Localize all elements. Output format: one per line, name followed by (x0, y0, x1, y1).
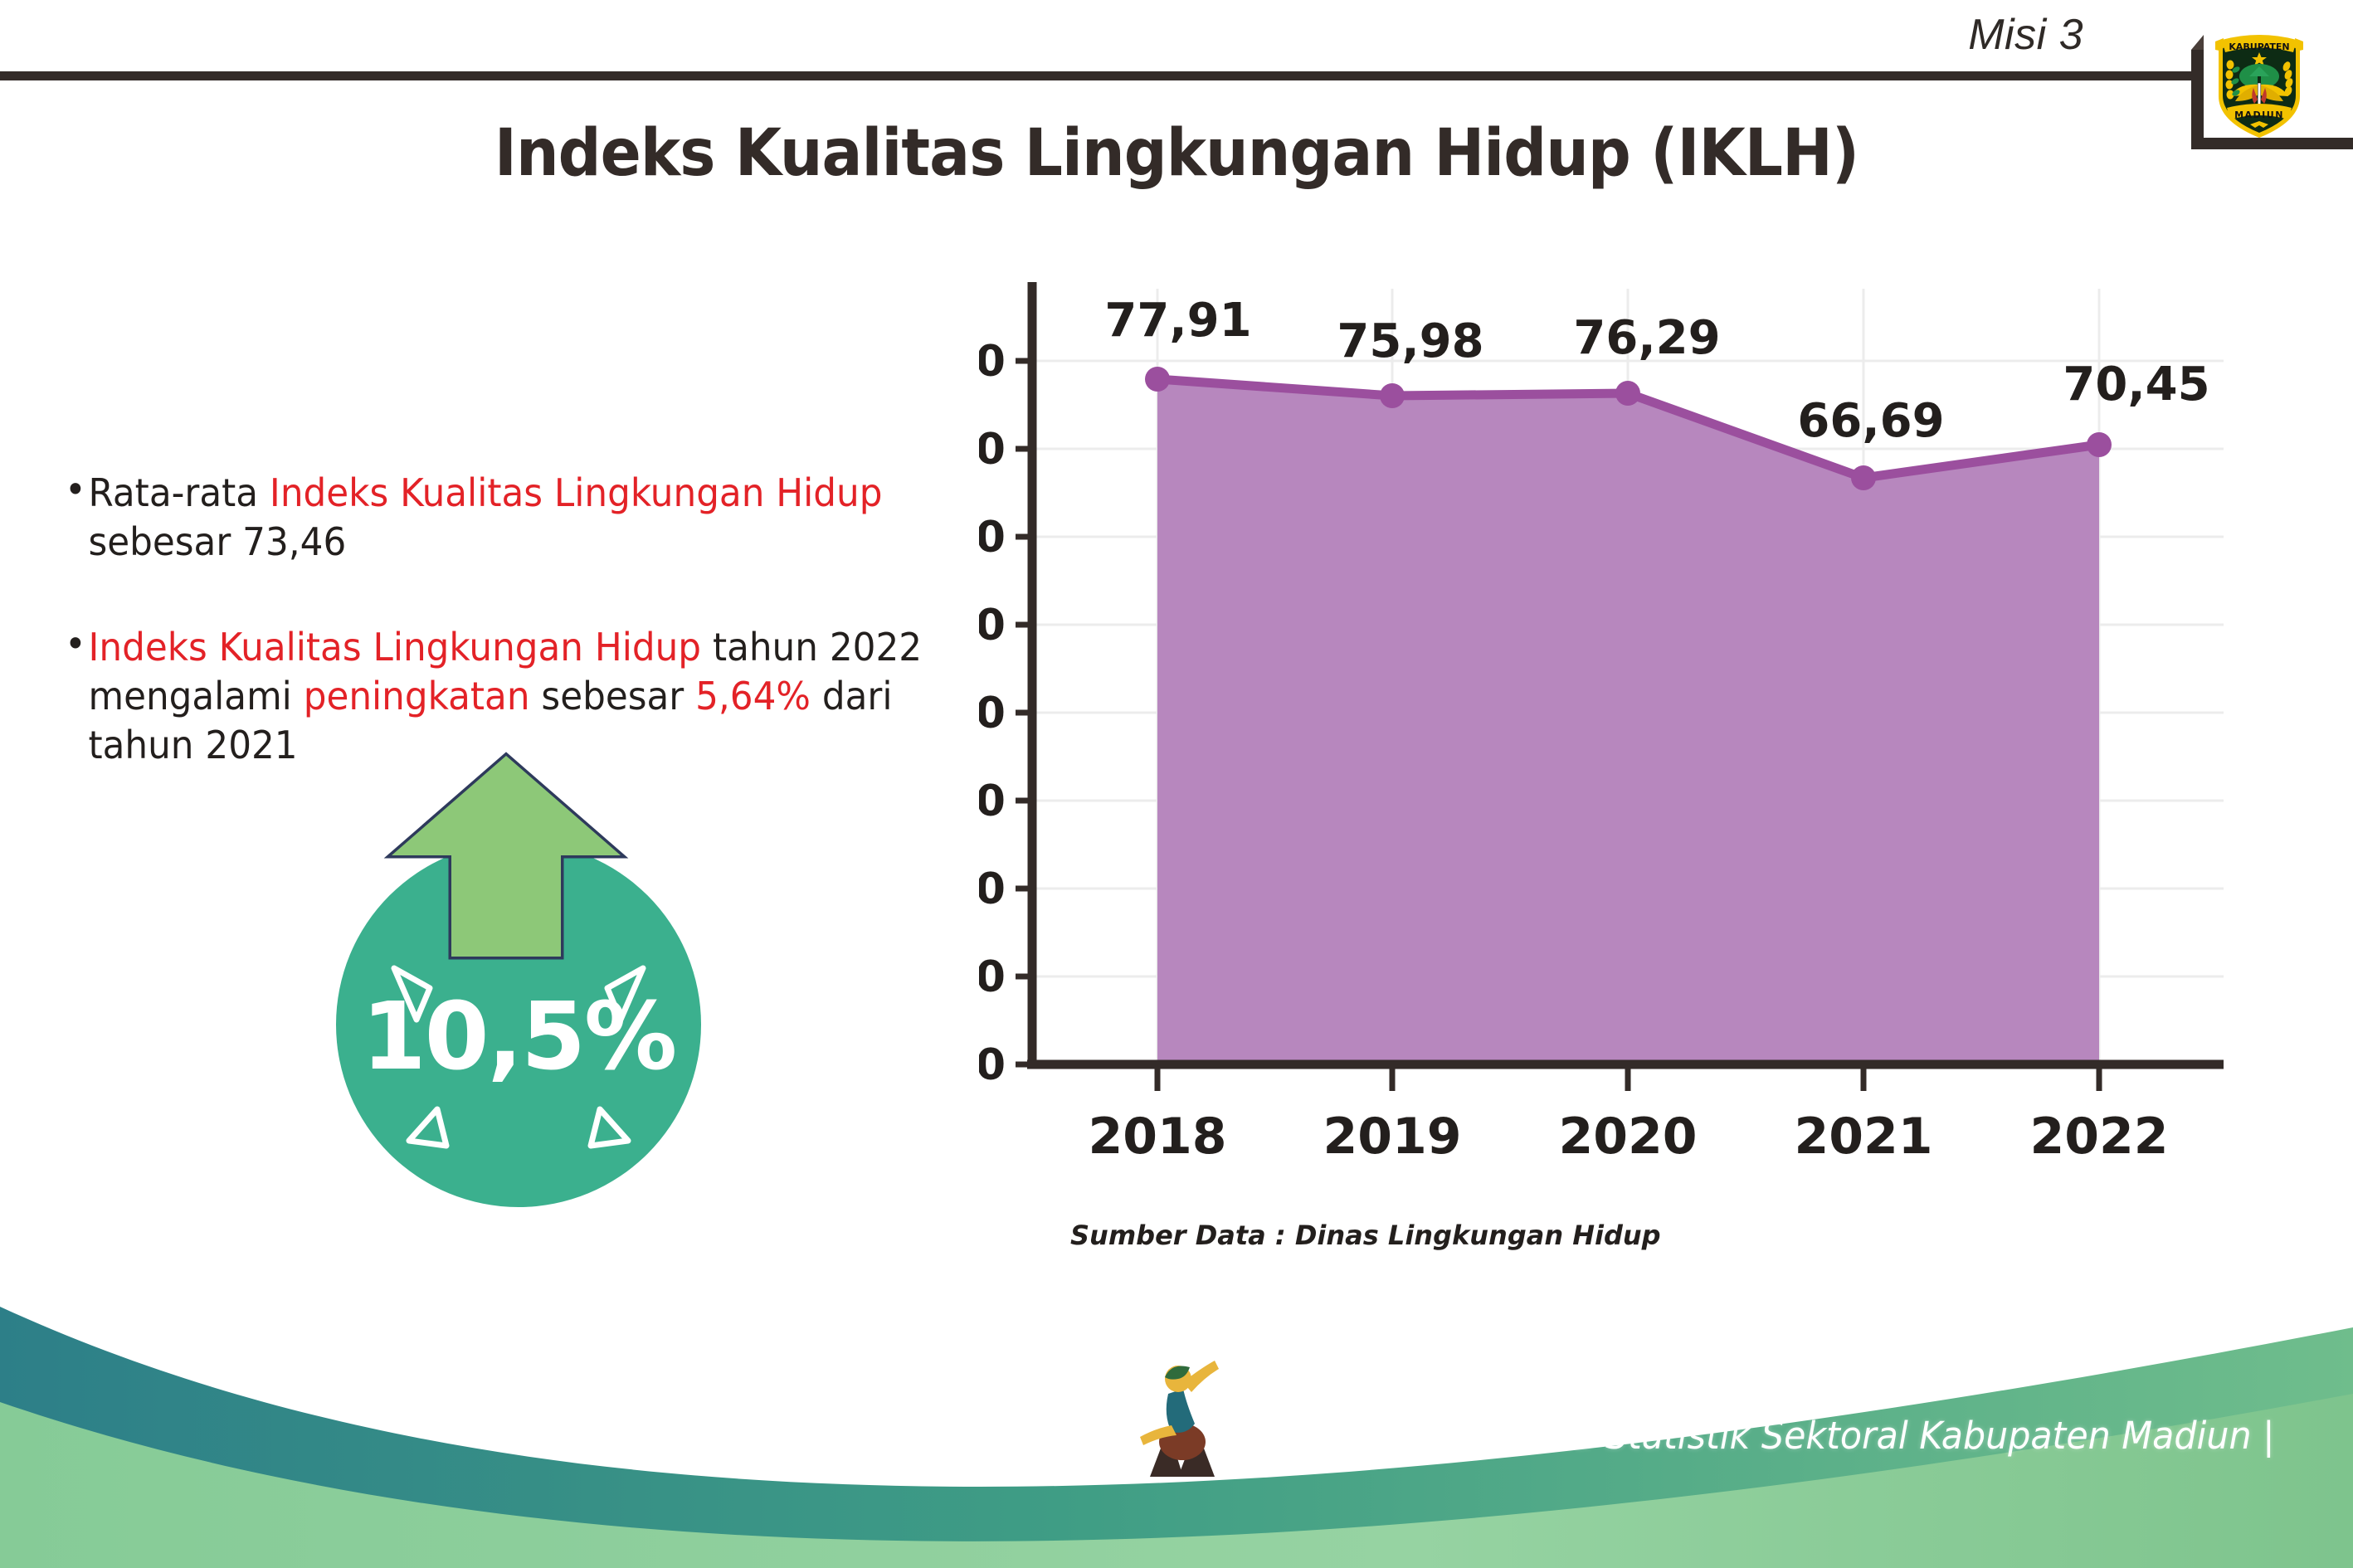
badge-value: 10,5% (336, 983, 701, 1091)
y-tick-label: 30 (979, 777, 1006, 826)
y-tick-label: 80 (979, 337, 1006, 387)
source-note: Sumber Data : Dinas Lingkungan Hidup (1070, 1220, 2149, 1251)
header-rule (0, 71, 2195, 80)
y-tick-label: 20 (979, 864, 1006, 914)
svg-text:KABUPATEN: KABUPATEN (2229, 41, 2289, 52)
x-tick-label: 2020 (1559, 1108, 1698, 1166)
list-item: Rata-rata Indeks Kualitas Lingkungan Hid… (65, 469, 940, 567)
list-item: Indeks Kualitas Lingkungan Hidup tahun 2… (65, 623, 940, 770)
y-tick-label: 60 (979, 513, 1006, 562)
x-tick-label: 2018 (1089, 1108, 1227, 1166)
y-tick-label: 70 (979, 425, 1006, 475)
x-tick-labels: 2018 2019 2020 2021 2022 (1089, 1108, 2169, 1166)
y-tick-label: 40 (979, 689, 1006, 738)
bullet-text-1: Rata-rata Indeks Kualitas Lingkungan Hid… (89, 470, 883, 564)
y-tick-labels: 80 70 60 50 40 30 20 10 0 (979, 337, 1006, 1090)
data-label: 77,91 (1104, 294, 1251, 348)
y-tick-label: 0 (979, 1040, 1006, 1090)
data-label: 66,69 (1797, 394, 1944, 448)
data-label: 70,45 (2063, 358, 2209, 411)
bullet-seg-highlight: Indeks Kualitas Lingkungan Hidup (89, 625, 702, 670)
infographic-page: Misi 3 KABUPATEN (0, 0, 2353, 1568)
bullet-seg: sebesar (530, 674, 696, 718)
footer-text: Media Infografis Data Statistik Sektoral… (1213, 1414, 2275, 1458)
iklh-area-chart: 80 70 60 50 40 30 20 10 0 2018 2019 2020… (979, 274, 2224, 1211)
bullet-seg: sebesar 73,46 (89, 519, 347, 564)
y-tick-label: 50 (979, 601, 1006, 650)
bullet-list: Rata-rata Indeks Kualitas Lingkungan Hid… (65, 469, 986, 769)
up-arrow-icon (382, 751, 631, 967)
bullet-seg-highlight: Indeks Kualitas Lingkungan Hidup (270, 470, 883, 515)
x-tick-label: 2019 (1323, 1108, 1462, 1166)
x-tick-label: 2022 (2030, 1108, 2169, 1166)
y-tick-label: 10 (979, 952, 1006, 1002)
increase-badge: 10,5% (315, 751, 780, 1215)
x-tick-label: 2021 (1795, 1108, 1933, 1166)
bullet-seg-highlight: 5,64% (695, 674, 811, 718)
bullet-seg-highlight: peningkatan (304, 674, 530, 718)
mission-label: Misi 3 (1968, 10, 2083, 60)
page-title: Indeks Kualitas Lingkungan Hidup (IKLH) (82, 116, 2270, 191)
data-label: 75,98 (1337, 314, 1483, 368)
chart-canvas: 80 70 60 50 40 30 20 10 0 2018 2019 2020… (979, 274, 2224, 1211)
data-label: 76,29 (1573, 311, 1720, 365)
area-fill (1157, 379, 2099, 1064)
bullet-seg: Rata-rata (89, 470, 270, 515)
bullet-text-2: Indeks Kualitas Lingkungan Hidup tahun 2… (89, 625, 923, 767)
